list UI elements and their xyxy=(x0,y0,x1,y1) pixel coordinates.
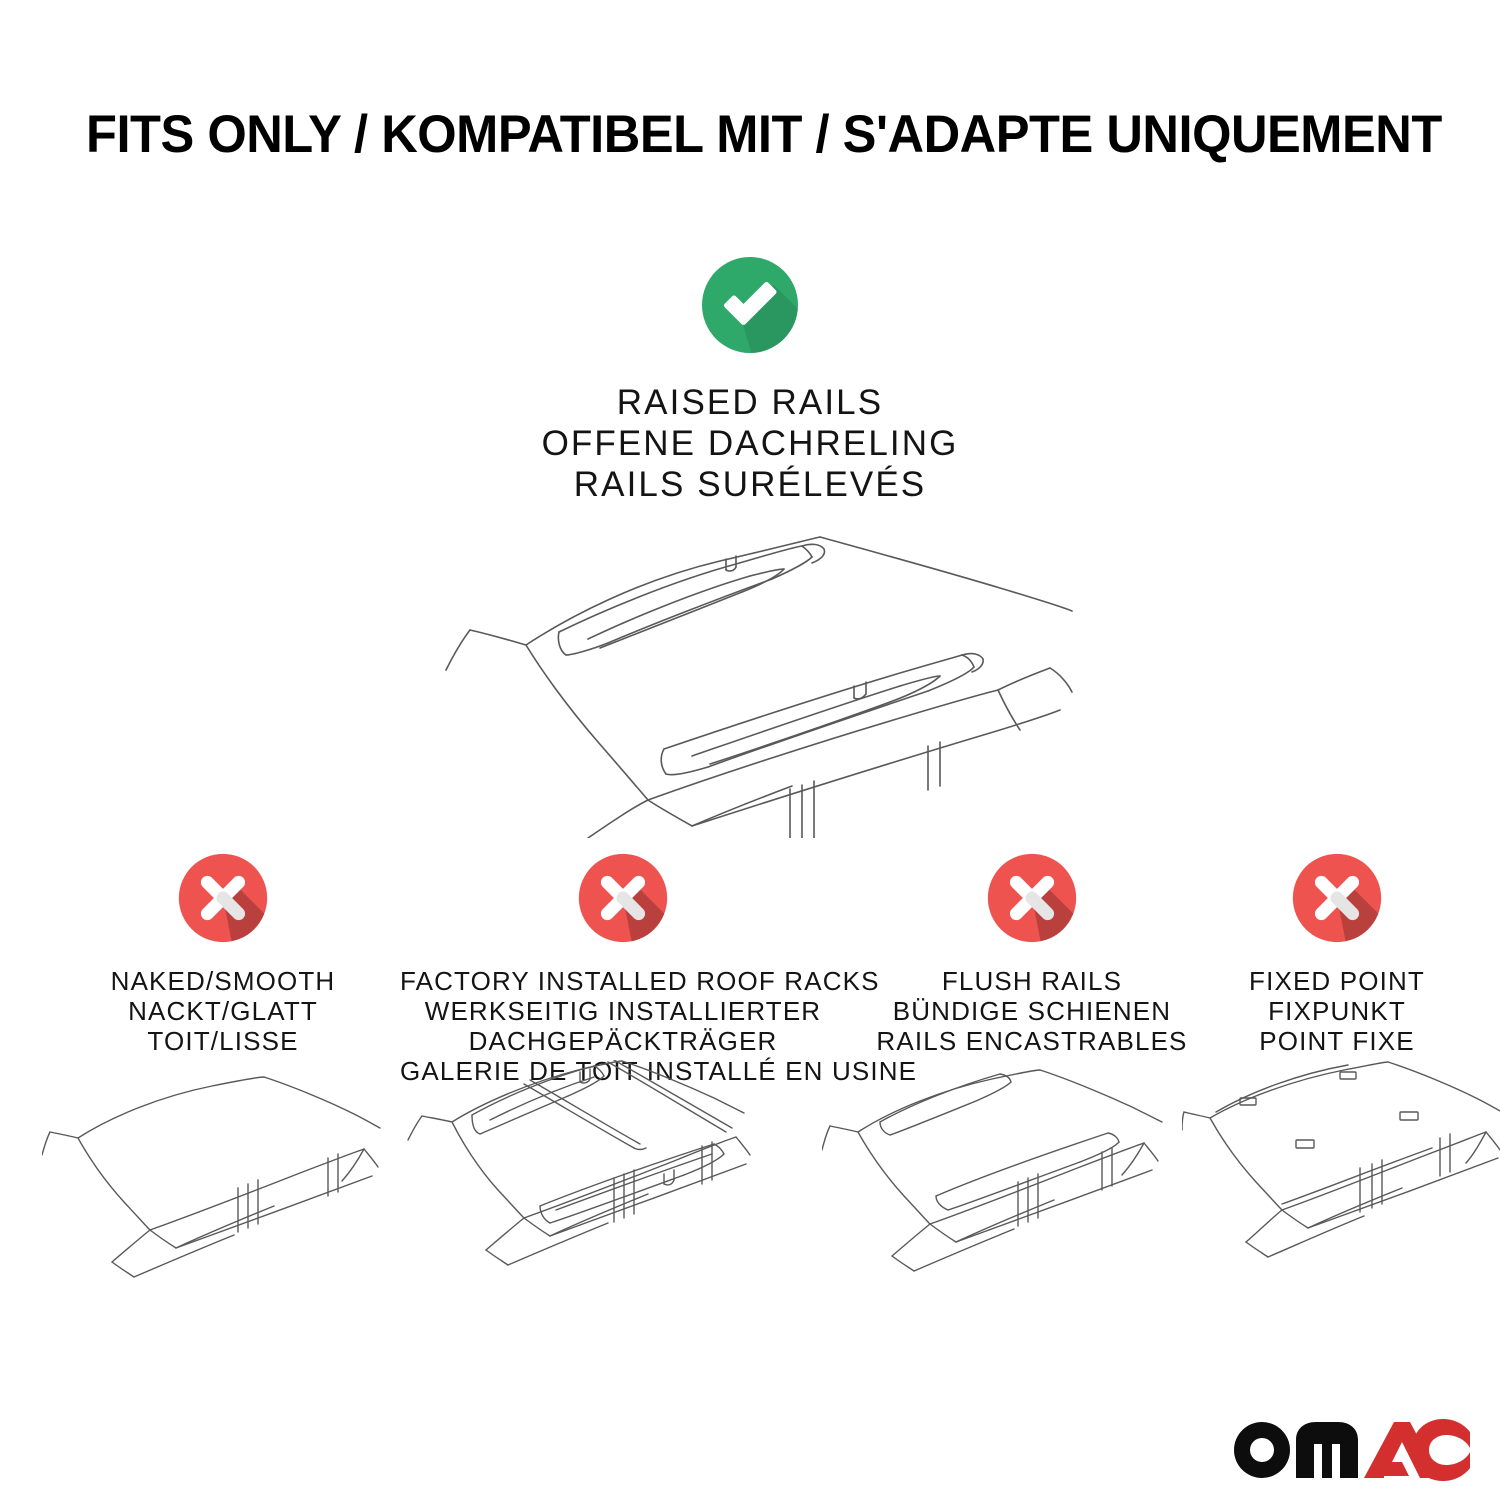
incompatible-4-line-2: FIXPUNKT xyxy=(1196,996,1478,1026)
car-roof-with-raised-rails-illustration xyxy=(420,508,1080,838)
incompatible-3-line-3: RAILS ENCASTRABLES xyxy=(846,1026,1218,1056)
incompatible-item-flush-rails: FLUSH RAILS BÜNDIGE SCHIENEN RAILS ENCAS… xyxy=(846,852,1218,1056)
compatible-line-2: OFFENE DACHRELING xyxy=(0,423,1500,464)
car-roof-flush-rails-illustration xyxy=(822,1060,1182,1300)
incompatible-caption-4: FIXED POINT FIXPUNKT POINT FIXE xyxy=(1196,966,1478,1056)
incompatible-1-line-1: NAKED/SMOOTH xyxy=(43,966,403,996)
incompatible-caption-1: NAKED/SMOOTH NACKT/GLATT TOIT/LISSE xyxy=(43,966,403,1056)
car-roof-naked-smooth-illustration xyxy=(42,1060,382,1300)
roof-type-illustrations xyxy=(0,1060,1500,1305)
red-cross-circle-icon xyxy=(1291,852,1383,944)
cross-circle-icon-wrap-3 xyxy=(986,852,1078,944)
incompatible-3-line-1: FLUSH RAILS xyxy=(846,966,1218,996)
omac-logo xyxy=(1232,1410,1472,1482)
incompatible-item-fixed-point: FIXED POINT FIXPUNKT POINT FIXE xyxy=(1196,852,1478,1056)
incompatible-1-line-2: NACKT/GLATT xyxy=(43,996,403,1026)
green-check-circle-icon xyxy=(700,255,800,355)
incompatible-1-line-3: TOIT/LISSE xyxy=(43,1026,403,1056)
compatible-line-3: RAILS SURÉLEVÉS xyxy=(0,464,1500,505)
red-cross-circle-icon xyxy=(986,852,1078,944)
car-roof-factory-roof-racks-illustration xyxy=(402,1060,762,1300)
incompatible-2-line-2: WERKSEITIG INSTALLIERTER xyxy=(400,996,846,1026)
incompatible-section: NAKED/SMOOTH NACKT/GLATT TOIT/LISSE xyxy=(0,852,1500,1052)
cross-circle-icon-wrap-1 xyxy=(177,852,269,944)
logo-letter-c xyxy=(1412,1419,1470,1481)
compatible-caption: RAISED RAILS OFFENE DACHRELING RAILS SUR… xyxy=(0,382,1500,505)
incompatible-caption-3: FLUSH RAILS BÜNDIGE SCHIENEN RAILS ENCAS… xyxy=(846,966,1218,1056)
compatible-section: RAISED RAILS OFFENE DACHRELING RAILS SUR… xyxy=(0,255,1500,505)
car-roof-fixed-point-illustration xyxy=(1182,1060,1500,1300)
cross-circle-icon-wrap-2 xyxy=(577,852,669,944)
incompatible-2-line-3: DACHGEPÄCKTRÄGER xyxy=(400,1026,846,1056)
red-cross-circle-icon xyxy=(577,852,669,944)
page-title: FITS ONLY / KOMPATIBEL MIT / S'ADAPTE UN… xyxy=(86,105,1366,165)
check-circle-icon-wrap xyxy=(700,255,800,355)
cross-circle-icon-wrap-4 xyxy=(1291,852,1383,944)
compatible-line-1: RAISED RAILS xyxy=(0,382,1500,423)
incompatible-4-line-3: POINT FIXE xyxy=(1196,1026,1478,1056)
logo-letter-m xyxy=(1296,1422,1358,1478)
incompatible-2-line-1: FACTORY INSTALLED ROOF RACKS xyxy=(400,966,846,996)
incompatible-4-line-1: FIXED POINT xyxy=(1196,966,1478,996)
incompatible-3-line-2: BÜNDIGE SCHIENEN xyxy=(846,996,1218,1026)
incompatible-item-naked-smooth: NAKED/SMOOTH NACKT/GLATT TOIT/LISSE xyxy=(43,852,403,1056)
incompatible-item-factory-installed-roof-racks: FACTORY INSTALLED ROOF RACKS WERKSEITIG … xyxy=(400,852,846,1086)
red-cross-circle-icon xyxy=(177,852,269,944)
